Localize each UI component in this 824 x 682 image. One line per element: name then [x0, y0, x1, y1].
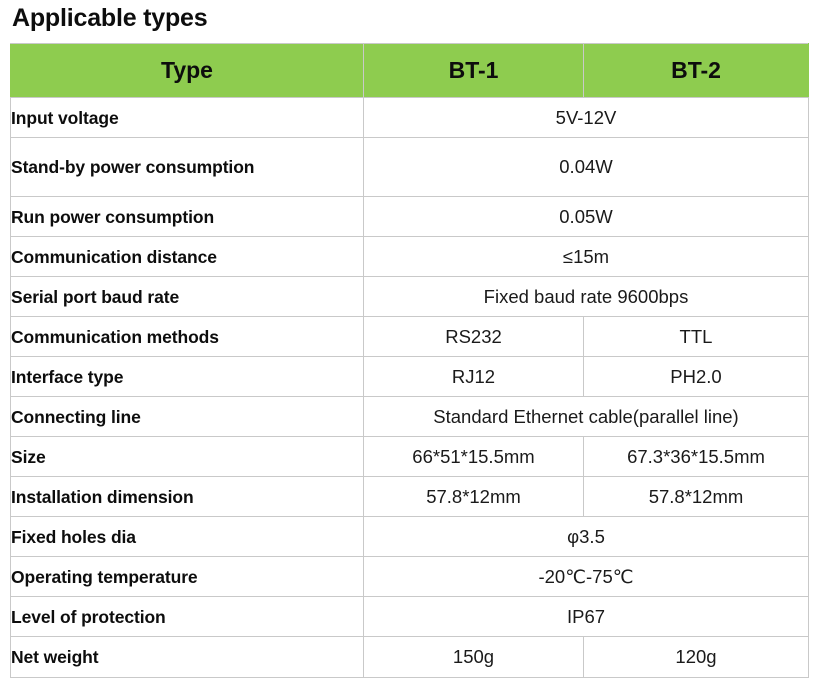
- table-header-row: Type BT-1 BT-2: [11, 44, 809, 98]
- spec-parameter-name: Communication methods: [11, 317, 364, 357]
- spec-parameter-name: Level of protection: [11, 597, 364, 637]
- spec-value-shared: Standard Ethernet cable(parallel line): [364, 397, 809, 437]
- table-row: Interface typeRJ12PH2.0: [11, 357, 809, 397]
- spec-parameter-name: Input voltage: [11, 98, 364, 138]
- spec-parameter-name: Communication distance: [11, 237, 364, 277]
- table-row: Size66*51*15.5mm67.3*36*15.5mm: [11, 437, 809, 477]
- spec-value-bt1: 57.8*12mm: [364, 477, 584, 517]
- spec-value-bt1: RS232: [364, 317, 584, 357]
- spec-parameter-name: Connecting line: [11, 397, 364, 437]
- spec-parameter-name: Fixed holes dia: [11, 517, 364, 557]
- spec-value-shared: 5V-12V: [364, 98, 809, 138]
- spec-value-bt1: RJ12: [364, 357, 584, 397]
- spec-value-bt1: 150g: [364, 637, 584, 678]
- spec-value-bt1: 66*51*15.5mm: [364, 437, 584, 477]
- spec-parameter-name: Stand-by power consumption: [11, 138, 364, 197]
- spec-value-shared: 0.04W: [364, 138, 809, 197]
- table-body: Input voltage5V-12VStand-by power consum…: [11, 98, 809, 678]
- spec-value-bt2: 67.3*36*15.5mm: [584, 437, 809, 477]
- table-row: Serial port baud rateFixed baud rate 960…: [11, 277, 809, 317]
- table-row: Operating temperature-20℃-75℃: [11, 557, 809, 597]
- spec-parameter-name: Size: [11, 437, 364, 477]
- column-header-bt2: BT-2: [584, 44, 809, 98]
- spec-value-bt2: 57.8*12mm: [584, 477, 809, 517]
- spec-parameter-name: Serial port baud rate: [11, 277, 364, 317]
- spec-value-bt2: TTL: [584, 317, 809, 357]
- table-row: Stand-by power consumption0.04W: [11, 138, 809, 197]
- spec-value-shared: -20℃-75℃: [364, 557, 809, 597]
- column-header-type: Type: [11, 44, 364, 98]
- spec-value-bt2: PH2.0: [584, 357, 809, 397]
- table-row: Run power consumption0.05W: [11, 197, 809, 237]
- table-row: Installation dimension57.8*12mm57.8*12mm: [11, 477, 809, 517]
- spec-value-shared: φ3.5: [364, 517, 809, 557]
- spec-table-container: Type BT-1 BT-2 Input voltage5V-12VStand-…: [10, 43, 808, 678]
- table-row: Communication distance≤15m: [11, 237, 809, 277]
- table-header: Type BT-1 BT-2: [11, 44, 809, 98]
- spec-parameter-name: Installation dimension: [11, 477, 364, 517]
- table-row: Input voltage5V-12V: [11, 98, 809, 138]
- table-row: Connecting lineStandard Ethernet cable(p…: [11, 397, 809, 437]
- applicable-types-table: Type BT-1 BT-2 Input voltage5V-12VStand-…: [10, 43, 809, 678]
- column-header-bt1: BT-1: [364, 44, 584, 98]
- table-row: Fixed holes diaφ3.5: [11, 517, 809, 557]
- spec-parameter-name: Run power consumption: [11, 197, 364, 237]
- spec-value-shared: ≤15m: [364, 237, 809, 277]
- spec-value-shared: Fixed baud rate 9600bps: [364, 277, 809, 317]
- table-row: Level of protectionIP67: [11, 597, 809, 637]
- page-title: Applicable types: [12, 2, 207, 34]
- spec-value-shared: IP67: [364, 597, 809, 637]
- spec-sheet-page: Applicable types Type BT-1 BT-2 Input vo…: [0, 0, 824, 682]
- spec-parameter-name: Operating temperature: [11, 557, 364, 597]
- spec-parameter-name: Interface type: [11, 357, 364, 397]
- spec-value-bt2: 120g: [584, 637, 809, 678]
- spec-value-shared: 0.05W: [364, 197, 809, 237]
- table-row: Communication methodsRS232TTL: [11, 317, 809, 357]
- spec-parameter-name: Net weight: [11, 637, 364, 678]
- table-row: Net weight150g120g: [11, 637, 809, 678]
